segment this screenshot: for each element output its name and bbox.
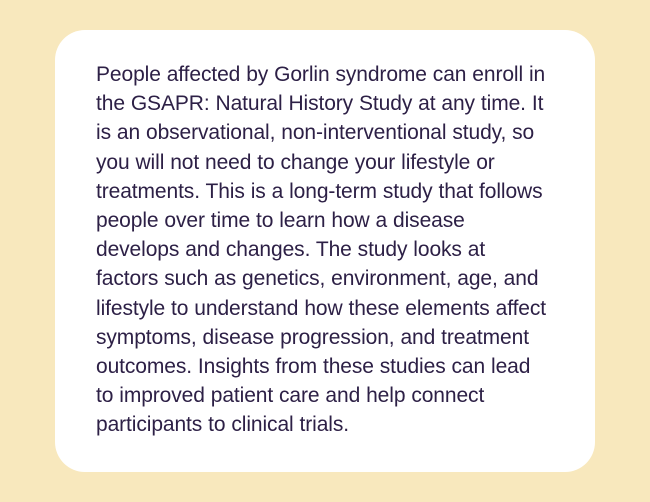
study-description-paragraph: People affected by Gorlin syndrome can e…: [96, 60, 552, 440]
info-card: People affected by Gorlin syndrome can e…: [55, 30, 595, 472]
card-body: People affected by Gorlin syndrome can e…: [96, 60, 552, 440]
page-canvas: People affected by Gorlin syndrome can e…: [0, 0, 650, 502]
